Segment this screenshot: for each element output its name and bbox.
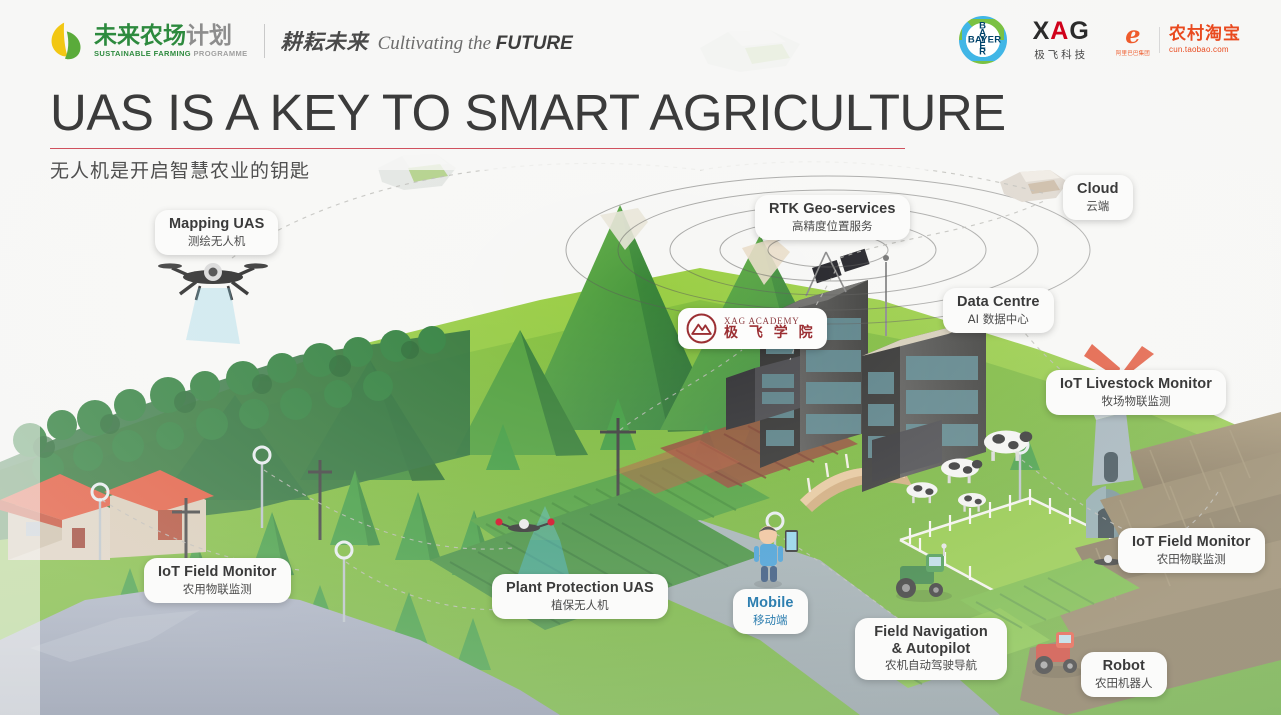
bayer-wordmark-vertical: BAYER (979, 24, 986, 57)
callout-iot-field-monitor-left[interactable]: IoT Field Monitor农用物联监测 (144, 558, 291, 603)
callout-iot-field-monitor-right[interactable]: IoT Field Monitor农田物联监测 (1118, 528, 1265, 573)
taobao-url: cun.taobao.com (1169, 45, 1241, 54)
callout-rtk-geo-services-en: RTK Geo-services (769, 201, 896, 218)
xag-academy-mountain-icon (686, 313, 717, 344)
callout-mapping-uas[interactable]: Mapping UAS测绘无人机 (155, 210, 278, 255)
partner-logos: BAYER BAYER XAG 极飞科技 e 阿里巴巴集团 农村淘宝 cu (959, 14, 1241, 66)
callout-data-centre-cn: AI 数据中心 (957, 312, 1040, 326)
xag-wordmark: XAG (1033, 19, 1090, 44)
sustainable-farming-programme-logo: 未来农场计划 SUSTAINABLE FARMING PROGRAMME 耕耘未… (44, 18, 573, 64)
callout-plant-protection-uas-en: Plant Protection UAS (506, 580, 654, 597)
alibaba-sub: 阿里巴巴集团 (1116, 49, 1150, 57)
callout-iot-field-monitor-right-cn: 农田物联监测 (1132, 552, 1251, 566)
callout-plant-protection-uas-cn: 植保无人机 (506, 598, 654, 612)
callout-mapping-uas-en: Mapping UAS (169, 216, 264, 233)
callout-mobile-cn: 移动端 (747, 613, 794, 627)
brand-cn: 未来农场计划 (94, 24, 248, 48)
callout-data-centre[interactable]: Data CentreAI 数据中心 (943, 288, 1054, 333)
page-title: UAS IS A KEY TO SMART AGRICULTURE (50, 86, 950, 140)
callout-iot-field-monitor-left-cn: 农用物联监测 (158, 582, 277, 596)
alibaba-mark: e 阿里巴巴集团 (1116, 23, 1150, 57)
tagline-cn: 耕耘未来 (281, 26, 369, 56)
taobao-divider (1159, 27, 1160, 53)
callout-mapping-uas-cn: 测绘无人机 (169, 234, 264, 248)
tagline-en: Cultivating the FUTURE (378, 33, 573, 55)
page-subtitle: 无人机是开启智慧农业的钥匙 (50, 156, 950, 183)
taobao-text: 农村淘宝 cun.taobao.com (1169, 26, 1241, 54)
tagline: 耕耘未来 Cultivating the FUTURE (281, 26, 573, 56)
cun-taobao-logo: e 阿里巴巴集团 农村淘宝 cun.taobao.com (1116, 23, 1241, 57)
slide-root: 未来农场计划 SUSTAINABLE FARMING PROGRAMME 耕耘未… (0, 0, 1281, 715)
callout-field-navigation-autopilot-cn: 农机自动驾驶导航 (869, 658, 993, 672)
callout-mobile[interactable]: Mobile移动端 (733, 589, 808, 634)
callout-iot-field-monitor-left-en: IoT Field Monitor (158, 564, 277, 581)
title-underline (50, 148, 905, 150)
callout-iot-livestock-monitor-cn: 牧场物联监测 (1060, 394, 1212, 408)
title-block: UAS IS A KEY TO SMART AGRICULTURE 无人机是开启… (50, 86, 950, 183)
mapping-drone (158, 263, 268, 344)
alibaba-glyph-icon: e (1116, 23, 1150, 47)
callout-rtk-geo-services[interactable]: RTK Geo-services高精度位置服务 (755, 195, 910, 240)
callout-iot-field-monitor-right-en: IoT Field Monitor (1132, 534, 1251, 551)
callout-mobile-en: Mobile (747, 595, 794, 612)
callout-robot-en: Robot (1095, 658, 1153, 675)
xag-cn: 极飞科技 (1033, 47, 1090, 62)
callout-data-centre-en: Data Centre (957, 294, 1040, 311)
callout-field-navigation-autopilot[interactable]: Field Navigation & Autopilot农机自动驾驶导航 (855, 618, 1007, 680)
callout-cloud-en: Cloud (1077, 181, 1119, 198)
header-divider (264, 24, 265, 58)
leaf-logo-icon (44, 20, 86, 62)
callout-cloud-cn: 云端 (1077, 199, 1119, 213)
callout-field-navigation-autopilot-en: Field Navigation & Autopilot (869, 624, 993, 657)
callout-rtk-geo-services-cn: 高精度位置服务 (769, 219, 896, 233)
brand-en: SUSTAINABLE FARMING PROGRAMME (94, 49, 248, 58)
callout-plant-protection-uas[interactable]: Plant Protection UAS植保无人机 (492, 574, 668, 619)
callout-robot-cn: 农田机器人 (1095, 676, 1153, 690)
callout-cloud[interactable]: Cloud云端 (1063, 175, 1133, 220)
xag-academy-cn: 极 飞 学 院 (724, 326, 816, 341)
callout-iot-livestock-monitor-en: IoT Livestock Monitor (1060, 376, 1212, 393)
callout-robot[interactable]: Robot农田机器人 (1081, 652, 1167, 697)
taobao-cn: 农村淘宝 (1169, 26, 1241, 43)
bayer-logo: BAYER BAYER (959, 16, 1007, 64)
xag-logo: XAG 极飞科技 (1033, 19, 1090, 62)
xag-academy-badge: XAG ACADEMY 极 飞 学 院 (678, 308, 827, 349)
page-header: 未来农场计划 SUSTAINABLE FARMING PROGRAMME 耕耘未… (0, 0, 1281, 80)
callout-iot-livestock-monitor[interactable]: IoT Livestock Monitor牧场物联监测 (1046, 370, 1226, 415)
